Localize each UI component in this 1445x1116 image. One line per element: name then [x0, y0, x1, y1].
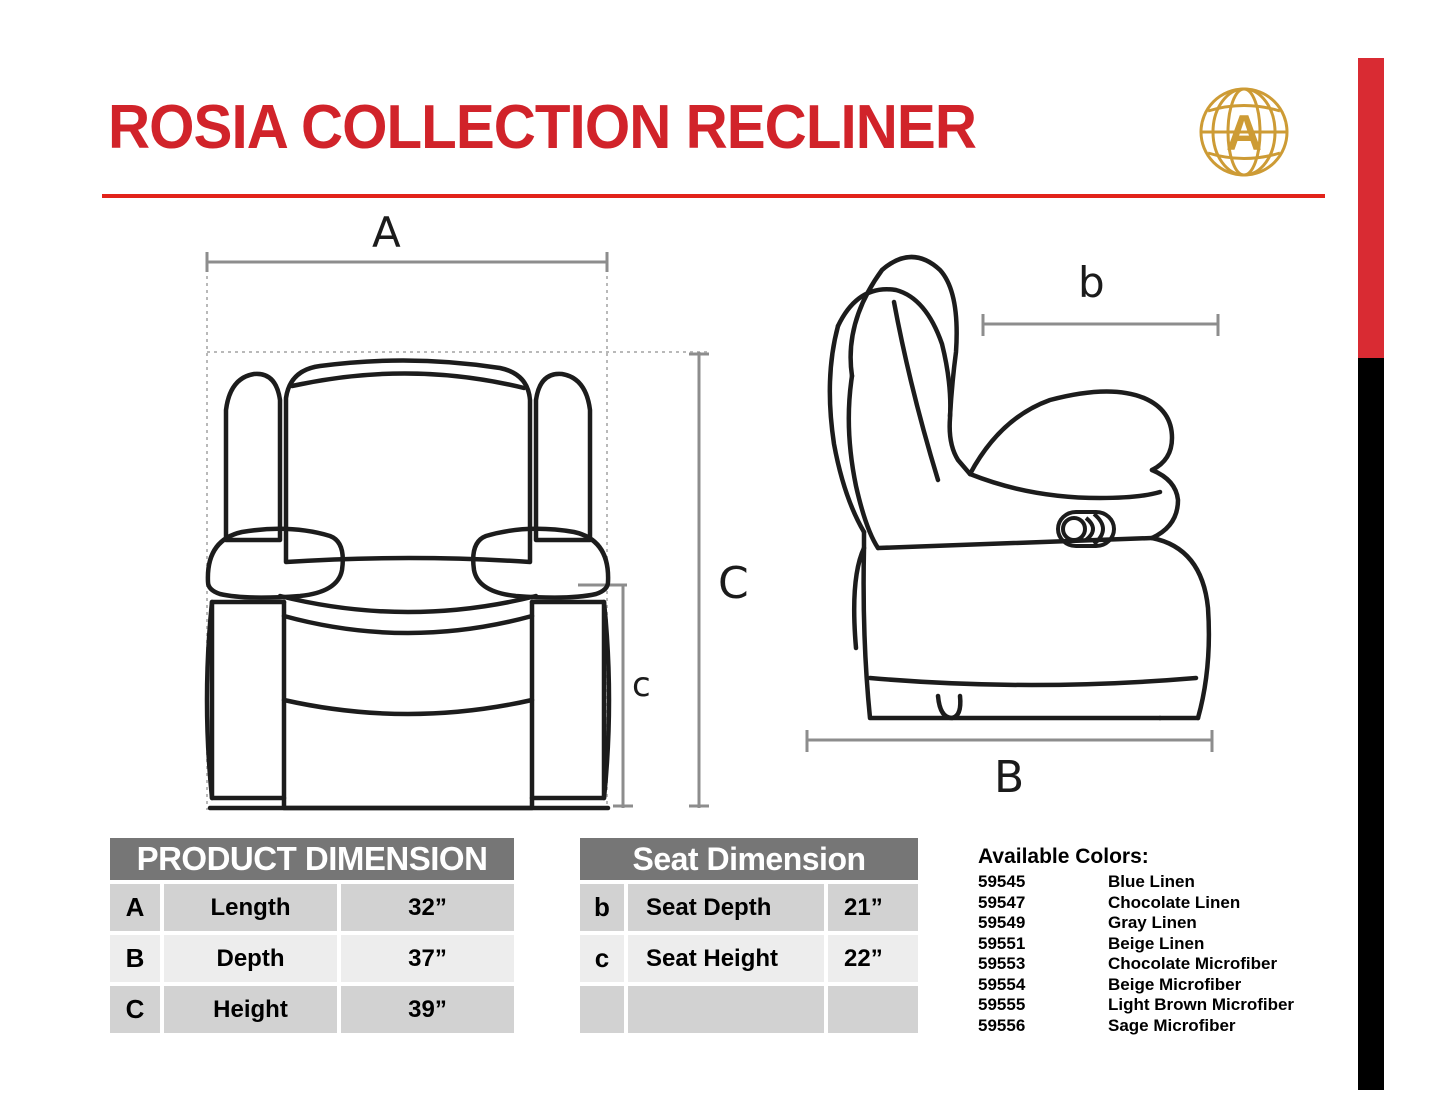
- cell-name: Length: [164, 884, 337, 931]
- color-code: 59553: [978, 954, 1108, 975]
- table-row: b Seat Depth 21”: [580, 884, 918, 931]
- cell-code: C: [110, 986, 160, 1033]
- list-item: 59556 Sage Microfiber: [978, 1016, 1328, 1037]
- globe-a-logo: A: [1196, 84, 1292, 180]
- spec-sheet-page: ROSIA COLLECTION RECLINER A: [0, 0, 1445, 1116]
- table-row: c Seat Height 22”: [580, 935, 918, 982]
- color-code: 59549: [978, 913, 1108, 934]
- cell-value: 22”: [828, 935, 918, 982]
- dimension-label-seat-depth-b: b: [1078, 262, 1105, 304]
- list-item: 59547 Chocolate Linen: [978, 893, 1328, 914]
- cell-name: Depth: [164, 935, 337, 982]
- color-name: Chocolate Microfiber: [1108, 954, 1328, 975]
- table-row: B Depth 37”: [110, 935, 514, 982]
- color-name: Chocolate Linen: [1108, 893, 1328, 914]
- cell-value: 21”: [828, 884, 918, 931]
- color-code: 59551: [978, 934, 1108, 955]
- recliner-front-view: A C c: [180, 210, 760, 820]
- cell-code: b: [580, 884, 624, 931]
- product-dimension-table-header: PRODUCT DIMENSION: [110, 838, 514, 880]
- header-divider-rule: [102, 194, 1325, 198]
- table-row: [580, 986, 918, 1033]
- sidebar-accent-red: [1358, 58, 1384, 358]
- cell-code: B: [110, 935, 160, 982]
- product-dimension-table: PRODUCT DIMENSION A Length 32” B Depth 3…: [110, 838, 514, 1033]
- list-item: 59551 Beige Linen: [978, 934, 1328, 955]
- cell-name: Height: [164, 986, 337, 1033]
- list-item: 59555 Light Brown Microfiber: [978, 995, 1328, 1016]
- cell-code: [580, 986, 624, 1033]
- cell-value: 39”: [341, 986, 514, 1033]
- recliner-side-view: b B: [800, 248, 1240, 808]
- list-item: 59545 Blue Linen: [978, 872, 1328, 893]
- table-row: A Length 32”: [110, 884, 514, 931]
- dimension-label-seat-height-c: c: [632, 668, 651, 702]
- color-name: Light Brown Microfiber: [1108, 995, 1328, 1016]
- dimension-label-C: C: [718, 562, 749, 606]
- list-item: 59549 Gray Linen: [978, 913, 1328, 934]
- cell-value: [828, 986, 918, 1033]
- sidebar-accent-black: [1358, 358, 1384, 1090]
- seat-dimension-table-header: Seat Dimension: [580, 838, 918, 880]
- cell-code: c: [580, 935, 624, 982]
- list-item: 59554 Beige Microfiber: [978, 975, 1328, 996]
- color-name: Blue Linen: [1108, 872, 1328, 893]
- color-name: Beige Microfiber: [1108, 975, 1328, 996]
- seat-dimension-table: Seat Dimension b Seat Depth 21” c Seat H…: [580, 838, 918, 1033]
- cell-name: Seat Depth: [628, 884, 824, 931]
- cell-value: 32”: [341, 884, 514, 931]
- dimension-label-B: B: [994, 756, 1024, 800]
- available-colors-list: Available Colors: 59545 Blue Linen 59547…: [978, 845, 1328, 1036]
- dimension-label-A: A: [372, 212, 401, 254]
- svg-text:A: A: [1226, 105, 1262, 161]
- cell-value: 37”: [341, 935, 514, 982]
- color-name: Sage Microfiber: [1108, 1016, 1328, 1037]
- color-code: 59555: [978, 995, 1108, 1016]
- color-name: Beige Linen: [1108, 934, 1328, 955]
- cell-name: [628, 986, 824, 1033]
- color-code: 59556: [978, 1016, 1108, 1037]
- table-row: C Height 39”: [110, 986, 514, 1033]
- color-code: 59545: [978, 872, 1108, 893]
- color-name: Gray Linen: [1108, 913, 1328, 934]
- page-title: ROSIA COLLECTION RECLINER: [108, 92, 976, 163]
- available-colors-title: Available Colors:: [978, 845, 1328, 869]
- cell-code: A: [110, 884, 160, 931]
- color-code: 59547: [978, 893, 1108, 914]
- color-code: 59554: [978, 975, 1108, 996]
- list-item: 59553 Chocolate Microfiber: [978, 954, 1328, 975]
- cell-name: Seat Height: [628, 935, 824, 982]
